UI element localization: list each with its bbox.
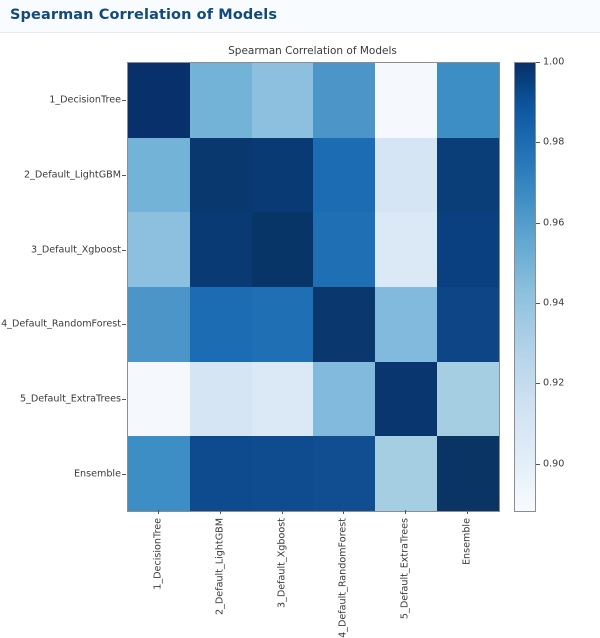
x-axis-tick-label: 5_Default_ExtraTrees — [400, 518, 411, 619]
heatmap-cell — [313, 362, 375, 437]
x-axis-tick-mark — [405, 510, 406, 514]
colorbar-tick-mark — [536, 62, 540, 63]
colorbar-tick-label: 0.96 — [543, 217, 564, 228]
heatmap-cell — [437, 362, 499, 437]
x-axis-tick-group: 3_Default_Xgboost — [251, 514, 313, 613]
colorbar-legend: 1.000.980.960.940.920.90 — [514, 62, 584, 512]
heatmap-grid — [127, 62, 500, 512]
y-axis-tick-label: 5_Default_ExtraTrees — [0, 394, 121, 405]
colorbar-tick-mark — [536, 223, 540, 224]
heatmap-cell — [313, 436, 375, 511]
y-axis-tick-label: 1_DecisionTree — [0, 95, 121, 106]
y-axis-tick-label: 4_Default_RandomForest — [0, 319, 121, 330]
x-axis-tick-group: 5_Default_ExtraTrees — [374, 514, 436, 613]
heatmap-cell — [128, 287, 190, 362]
heatmap-cell — [252, 212, 314, 287]
heatmap-figure: Spearman Correlation of Models 1_Decisio… — [0, 33, 600, 613]
colorbar-tick-label: 0.92 — [543, 378, 564, 389]
x-axis-tick-label: 2_Default_LightGBM — [214, 518, 225, 615]
x-axis-tick-group: 4_Default_RandomForest — [313, 514, 375, 613]
heatmap-cell — [190, 212, 252, 287]
y-axis-tick-mark — [122, 175, 126, 176]
y-axis-tick-label: 2_Default_LightGBM — [0, 170, 121, 181]
heatmap-cell — [375, 212, 437, 287]
heatmap-cell — [252, 63, 314, 138]
heatmap-cell — [313, 63, 375, 138]
heatmap-cell — [375, 138, 437, 213]
colorbar-gradient — [514, 62, 536, 512]
y-axis-tick-mark — [122, 250, 126, 251]
heatmap-cell — [252, 362, 314, 437]
heatmap-cell — [375, 287, 437, 362]
heatmap-cell — [128, 362, 190, 437]
x-axis-tick-label: 1_DecisionTree — [152, 518, 163, 590]
heatmap-cell — [190, 287, 252, 362]
heatmap-cell — [437, 138, 499, 213]
x-axis-tick-mark — [343, 510, 344, 514]
colorbar-tick-label: 0.90 — [543, 458, 564, 469]
heatmap-cell — [437, 287, 499, 362]
heatmap-cell — [437, 212, 499, 287]
heatmap-cell — [128, 436, 190, 511]
heatmap-cell — [190, 436, 252, 511]
heatmap-cell — [313, 287, 375, 362]
heatmap-cell — [375, 63, 437, 138]
heatmap-cell — [313, 138, 375, 213]
colorbar-tick-mark — [536, 303, 540, 304]
heatmap-cell — [128, 63, 190, 138]
heatmap-cell — [252, 436, 314, 511]
x-axis-tick-label: 4_Default_RandomForest — [338, 518, 349, 638]
chart-title: Spearman Correlation of Models — [127, 45, 498, 57]
heatmap-cell — [437, 63, 499, 138]
x-axis-tick-mark — [467, 510, 468, 514]
x-axis-tick-group: 2_Default_LightGBM — [189, 514, 251, 613]
x-axis-tick-mark — [220, 510, 221, 514]
y-axis: 1_DecisionTree2_Default_LightGBM3_Defaul… — [0, 62, 121, 512]
x-axis-tick-label: Ensemble — [462, 518, 473, 565]
heatmap-cell — [190, 362, 252, 437]
heatmap-cell — [313, 212, 375, 287]
colorbar-tick-mark — [536, 464, 540, 465]
page-title: Spearman Correlation of Models — [10, 7, 277, 23]
y-axis-tick-mark — [122, 399, 126, 400]
y-axis-tick-label: Ensemble — [0, 468, 121, 479]
colorbar-tick-mark — [536, 142, 540, 143]
x-axis-tick-group: 1_DecisionTree — [127, 514, 189, 613]
heatmap-cell — [190, 63, 252, 138]
heatmap-cell — [375, 362, 437, 437]
heatmap-cell — [437, 436, 499, 511]
y-axis-tick-label: 3_Default_Xgboost — [0, 244, 121, 255]
colorbar-tick-mark — [536, 383, 540, 384]
x-axis-tick-group: Ensemble — [436, 514, 498, 613]
heatmap-cell — [128, 212, 190, 287]
y-axis-tick-mark — [122, 324, 126, 325]
heatmap-cell — [128, 138, 190, 213]
heatmap-cell — [190, 138, 252, 213]
x-axis-tick-mark — [282, 510, 283, 514]
x-axis-tick-label: 3_Default_Xgboost — [276, 518, 287, 608]
x-axis: 1_DecisionTree2_Default_LightGBM3_Defaul… — [127, 514, 498, 613]
heatmap-cell — [252, 138, 314, 213]
colorbar-tick-label: 0.98 — [543, 137, 564, 148]
heatmap-cell — [375, 436, 437, 511]
page-header: Spearman Correlation of Models — [0, 0, 600, 33]
colorbar-tick-label: 0.94 — [543, 298, 564, 309]
colorbar-tick-label: 1.00 — [543, 57, 564, 68]
y-axis-tick-mark — [122, 100, 126, 101]
x-axis-tick-mark — [158, 510, 159, 514]
y-axis-tick-mark — [122, 474, 126, 475]
heatmap-cell — [252, 287, 314, 362]
